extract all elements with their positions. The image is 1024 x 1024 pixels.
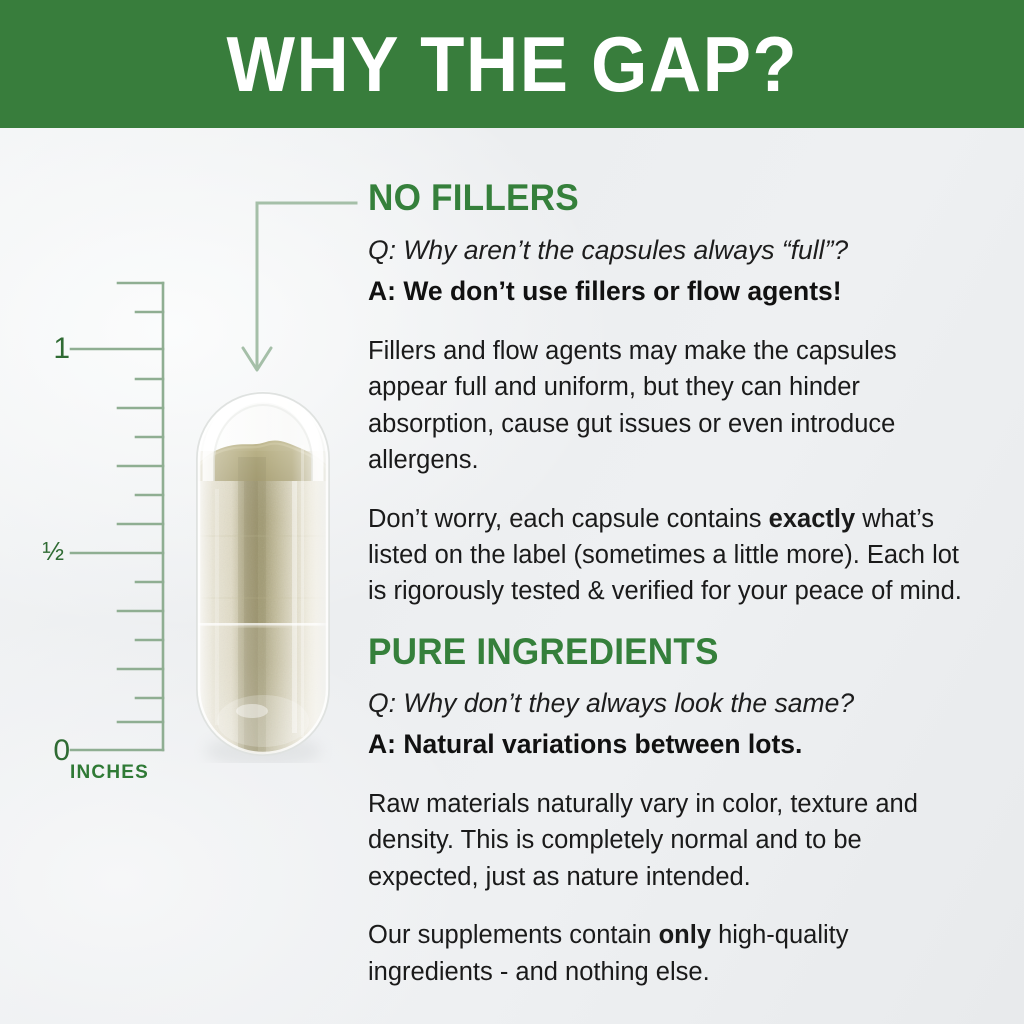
- infographic-canvas: WHY THE GAP?: [0, 0, 1024, 1024]
- inch-ruler: 1 ½ 0 INCHES: [0, 270, 200, 790]
- ruler-label-one: 1: [10, 334, 70, 364]
- paragraph-only-high-quality: Our supplements contain only high-qualit…: [368, 917, 978, 990]
- ruler-unit-label: INCHES: [70, 762, 149, 784]
- section-no-fillers: NO FILLERS Q: Why aren’t the capsules al…: [368, 178, 978, 610]
- answer-pure-ingredients: A: Natural variations between lots.: [368, 728, 978, 762]
- content-column: NO FILLERS Q: Why aren’t the capsules al…: [368, 178, 978, 1012]
- ruler-label-half: ½: [4, 538, 64, 564]
- paragraph-raw-materials-vary: Raw materials naturally vary in color, t…: [368, 786, 978, 895]
- elbow-arrow-icon: [240, 190, 380, 390]
- paragraph-exactly-as-listed: Don’t worry, each capsule contains exact…: [368, 501, 978, 610]
- page-title: WHY THE GAP?: [226, 25, 798, 103]
- section-heading-no-fillers: NO FILLERS: [368, 178, 948, 218]
- header-banner: WHY THE GAP?: [0, 0, 1024, 128]
- ruler-label-zero: 0: [10, 736, 70, 766]
- capsule-image: [188, 385, 338, 763]
- section-pure-ingredients: PURE INGREDIENTS Q: Why don’t they alway…: [368, 632, 978, 990]
- question-pure-ingredients: Q: Why don’t they always look the same?: [368, 687, 978, 721]
- question-no-fillers: Q: Why aren’t the capsules always “full”…: [368, 234, 978, 268]
- section-heading-pure-ingredients: PURE INGREDIENTS: [368, 632, 948, 672]
- paragraph-fillers-flow-agents: Fillers and flow agents may make the cap…: [368, 333, 978, 479]
- answer-no-fillers: A: We don’t use fillers or flow agents!: [368, 275, 978, 309]
